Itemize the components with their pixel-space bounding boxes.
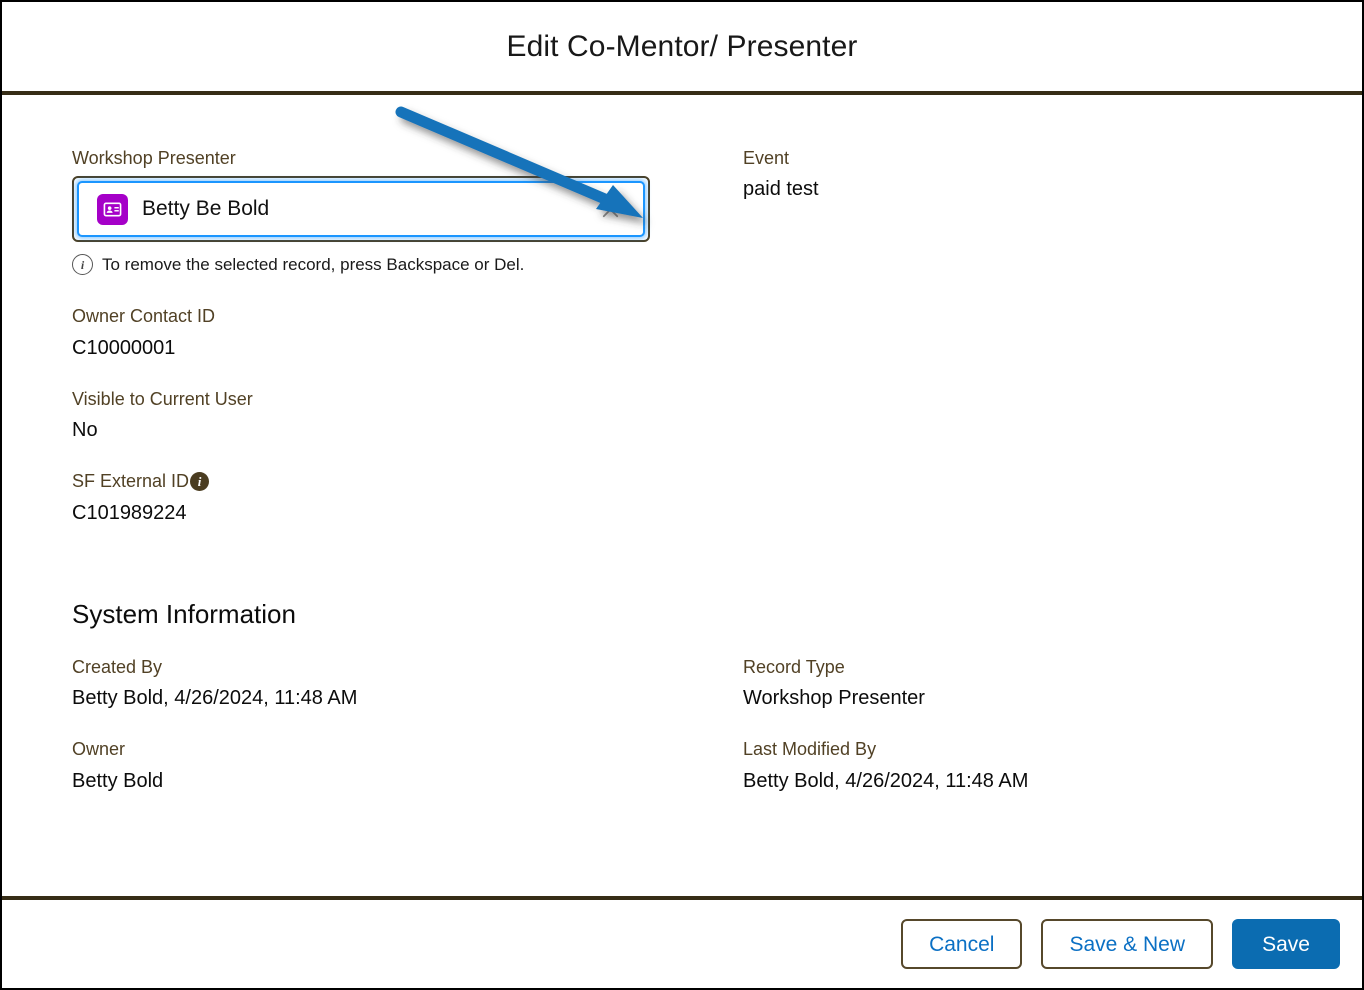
field-label-workshop-presenter: Workshop Presenter: [72, 147, 236, 170]
field-value-last-modified-by: Betty Bold, 4/26/2024, 11:48 AM: [743, 768, 1302, 795]
selected-record-pill[interactable]: Betty Be Bold: [97, 194, 595, 225]
field-sf-external-id: SF External ID i C101989224: [72, 470, 647, 526]
field-owner-contact-id: Owner Contact ID C10000001: [72, 305, 647, 361]
page-title: Edit Co-Mentor/ Presenter: [507, 32, 858, 62]
field-visible-to-current-user: Visible to Current User No: [72, 388, 647, 444]
field-label-created-by: Created By: [72, 656, 162, 679]
lookup-helper-text: To remove the selected record, press Bac…: [102, 255, 524, 275]
cancel-button[interactable]: Cancel: [901, 919, 1022, 969]
form-column-left: Workshop Presenter: [72, 147, 687, 553]
modal-header: Edit Co-Mentor/ Presenter: [2, 2, 1362, 95]
modal-footer: Cancel Save & New Save: [2, 896, 1362, 988]
field-event: Event paid test: [743, 147, 1302, 203]
field-owner: Owner Betty Bold: [72, 738, 647, 794]
edit-record-modal: Edit Co-Mentor/ Presenter Workshop Prese…: [0, 0, 1364, 990]
field-label-last-modified-by: Last Modified By: [743, 738, 876, 761]
info-circle-icon[interactable]: i: [190, 472, 209, 491]
field-last-modified-by: Last Modified By Betty Bold, 4/26/2024, …: [743, 738, 1302, 794]
lookup-helper-row: i To remove the selected record, press B…: [72, 254, 647, 275]
system-info-column-left: Created By Betty Bold, 4/26/2024, 11:48 …: [72, 656, 687, 821]
field-label-owner-contact-id: Owner Contact ID: [72, 305, 215, 328]
system-info-column-right: Record Type Workshop Presenter Last Modi…: [687, 656, 1302, 821]
field-value-owner: Betty Bold: [72, 768, 647, 795]
form-grid-primary: Workshop Presenter: [72, 147, 1302, 553]
save-button[interactable]: Save: [1232, 919, 1340, 969]
close-icon: [600, 199, 621, 220]
field-workshop-presenter: Workshop Presenter: [72, 147, 647, 275]
field-value-event: paid test: [743, 176, 1302, 203]
form-column-right: Event paid test: [687, 147, 1302, 553]
contact-card-icon: [97, 194, 128, 225]
field-label-owner: Owner: [72, 738, 125, 761]
section-heading-system-information: System Information: [72, 599, 1302, 630]
field-value-created-by: Betty Bold, 4/26/2024, 11:48 AM: [72, 685, 647, 712]
lookup-input-workshop-presenter[interactable]: Betty Be Bold: [72, 176, 650, 242]
field-label-row-sf-external-id: SF External ID i: [72, 470, 647, 493]
field-value-record-type: Workshop Presenter: [743, 685, 1302, 712]
field-record-type: Record Type Workshop Presenter: [743, 656, 1302, 712]
field-value-visible-to-current-user: No: [72, 417, 647, 444]
form-grid-system-information: Created By Betty Bold, 4/26/2024, 11:48 …: [72, 656, 1302, 821]
lookup-input-inner[interactable]: Betty Be Bold: [77, 181, 645, 237]
field-label-visible-to-current-user: Visible to Current User: [72, 388, 253, 411]
lookup-clear-button[interactable]: [595, 194, 625, 224]
field-label-event: Event: [743, 147, 789, 170]
save-and-new-button[interactable]: Save & New: [1041, 919, 1213, 969]
field-value-owner-contact-id: C10000001: [72, 335, 647, 362]
modal-body: Workshop Presenter: [2, 95, 1362, 896]
info-circle-icon: i: [72, 254, 93, 275]
selected-record-label: Betty Be Bold: [142, 197, 269, 221]
field-created-by: Created By Betty Bold, 4/26/2024, 11:48 …: [72, 656, 647, 712]
field-label-record-type: Record Type: [743, 656, 845, 679]
field-value-sf-external-id: C101989224: [72, 500, 647, 527]
field-label-sf-external-id: SF External ID: [72, 470, 189, 493]
